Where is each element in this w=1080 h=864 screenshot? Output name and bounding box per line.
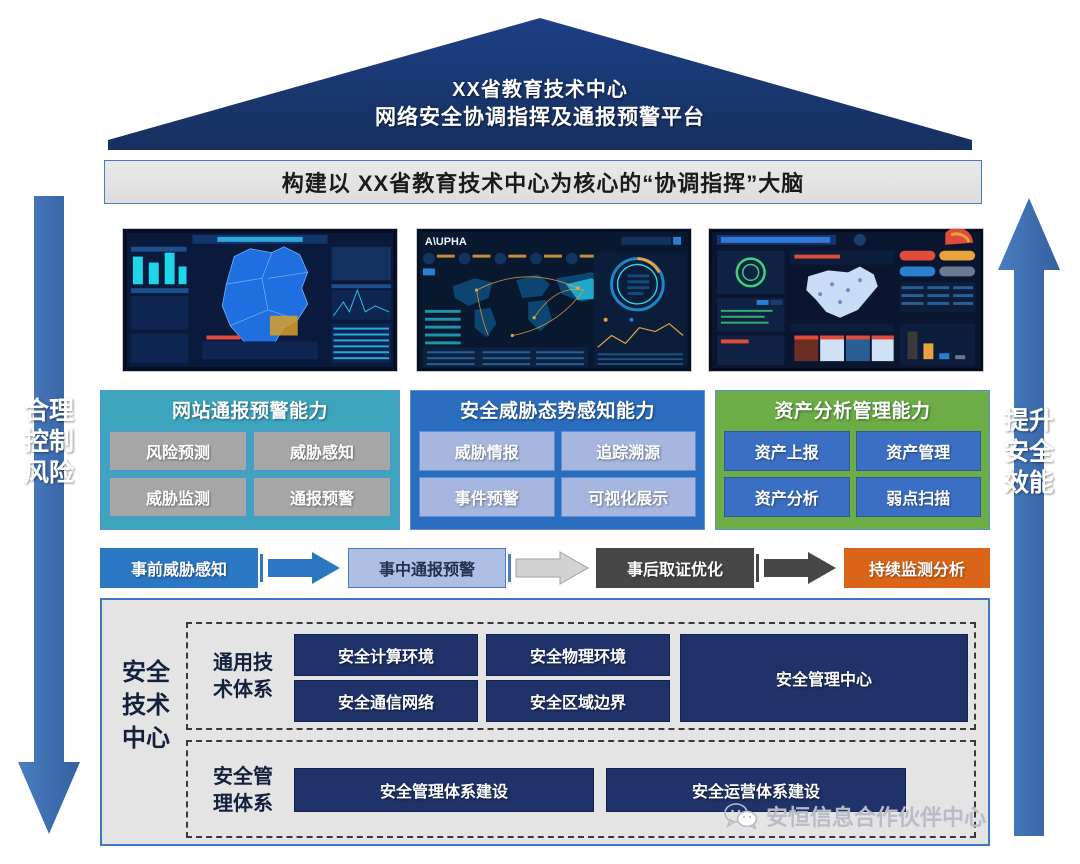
tech-item-secure-computing-env[interactable]: 安全计算环境 bbox=[294, 634, 478, 676]
cap-2-button-2[interactable]: 追踪溯源 bbox=[561, 431, 697, 471]
cap-2-title: 安全威胁态势感知能力 bbox=[419, 397, 696, 427]
roof-title-line2: 网络安全协调指挥及通报预警平台 bbox=[108, 104, 972, 132]
cap-1-button-3[interactable]: 威胁监测 bbox=[109, 477, 247, 517]
cap-1-button-1[interactable]: 风险预测 bbox=[109, 431, 247, 471]
right-arrow-icon bbox=[756, 550, 838, 586]
right-arrow-icon bbox=[260, 550, 342, 586]
cap-1-button-4[interactable]: 通报预警 bbox=[253, 477, 391, 517]
cap-1-button-2[interactable]: 威胁感知 bbox=[253, 431, 391, 471]
cap-2-button-1[interactable]: 威胁情报 bbox=[419, 431, 555, 471]
left-arrow-label: 合理控制风险 bbox=[16, 396, 82, 489]
flow-arrow-1 bbox=[260, 550, 342, 586]
flow-step-pre-incident[interactable]: 事前威胁感知 bbox=[100, 548, 258, 588]
cap-1-buttons: 风险预测 威胁感知 威胁监测 通报预警 bbox=[109, 431, 391, 517]
thumbnail-education-threat-intel-dashboard[interactable] bbox=[708, 228, 984, 372]
alpha-dashboard-image: A\UPHA bbox=[417, 229, 691, 371]
cap-3-button-3[interactable]: 资产分析 bbox=[724, 477, 850, 517]
flow-arrow-3 bbox=[756, 550, 838, 586]
province-dashboard-image bbox=[123, 229, 397, 371]
capability-panel-website-alert: 网站通报预警能力 风险预测 威胁感知 威胁监测 通报预警 bbox=[100, 390, 400, 530]
svg-text:A\UPHA: A\UPHA bbox=[425, 236, 467, 248]
cap-2-buttons: 威胁情报 追踪溯源 事件预警 可视化展示 bbox=[419, 431, 696, 517]
capability-panel-asset-analysis: 资产分析管理能力 资产上报 资产管理 资产分析 弱点扫描 bbox=[715, 390, 990, 530]
cap-1-title: 网站通报预警能力 bbox=[109, 397, 391, 427]
flow-step-during-incident[interactable]: 事中通报预警 bbox=[348, 548, 506, 588]
process-flow: 事前威胁感知 事中通报预警 事后取证优化 持续监测分析 bbox=[100, 548, 990, 588]
security-tech-center-frame: 安全 技术 中心 通用技 术体系 安全计算环境 安全物理环境 安全通信网络 安全… bbox=[100, 598, 990, 846]
security-tech-center-label: 安全 技术 中心 bbox=[114, 656, 178, 755]
capability-panel-threat-situation: 安全威胁态势感知能力 威胁情报 追踪溯源 事件预警 可视化展示 bbox=[410, 390, 705, 530]
cap-3-title: 资产分析管理能力 bbox=[724, 397, 981, 427]
roof-title: XX省教育技术中心 网络安全协调指挥及通报预警平台 bbox=[108, 76, 972, 132]
education-dashboard-image bbox=[709, 229, 983, 371]
headline-bar: 构建以 XX省教育技术中心为核心的“协调指挥”大脑 bbox=[104, 160, 982, 204]
mgmt-item-management-system-build[interactable]: 安全管理体系建设 bbox=[294, 768, 594, 812]
down-arrow-icon bbox=[16, 196, 82, 836]
right-arrow-label: 提升安全效能 bbox=[996, 406, 1062, 499]
headline-text: 构建以 XX省教育技术中心为核心的“协调指挥”大脑 bbox=[282, 166, 804, 198]
general-tech-system-group: 通用技 术体系 安全计算环境 安全物理环境 安全通信网络 安全区域边界 安全管理… bbox=[186, 622, 976, 730]
up-arrow-icon bbox=[996, 196, 1062, 836]
cap-3-buttons: 资产上报 资产管理 资产分析 弱点扫描 bbox=[724, 431, 981, 517]
cap-2-button-4[interactable]: 可视化展示 bbox=[561, 477, 697, 517]
right-up-arrow: 提升安全效能 bbox=[996, 196, 1062, 836]
flow-step-continuous-monitoring[interactable]: 持续监测分析 bbox=[844, 548, 990, 588]
roof-banner: XX省教育技术中心 网络安全协调指挥及通报预警平台 bbox=[108, 18, 972, 150]
cap-3-button-2[interactable]: 资产管理 bbox=[856, 431, 982, 471]
tech-item-secure-area-boundary[interactable]: 安全区域边界 bbox=[486, 680, 670, 722]
security-management-system-label: 安全管 理体系 bbox=[202, 764, 284, 818]
mgmt-item-operations-system-build[interactable]: 安全运营体系建设 bbox=[606, 768, 906, 812]
tech-item-security-management-center[interactable]: 安全管理中心 bbox=[680, 634, 968, 722]
cap-2-button-3[interactable]: 事件预警 bbox=[419, 477, 555, 517]
flow-step-post-incident[interactable]: 事后取证优化 bbox=[596, 548, 754, 588]
cap-3-button-1[interactable]: 资产上报 bbox=[724, 431, 850, 471]
security-management-system-group: 安全管 理体系 安全管理体系建设 安全运营体系建设 bbox=[186, 740, 976, 838]
general-tech-system-label: 通用技 术体系 bbox=[202, 650, 284, 704]
tech-item-secure-comm-network[interactable]: 安全通信网络 bbox=[294, 680, 478, 722]
left-down-arrow: 合理控制风险 bbox=[16, 196, 82, 836]
flow-arrow-2 bbox=[508, 550, 590, 586]
cap-3-button-4[interactable]: 弱点扫描 bbox=[856, 477, 982, 517]
roof-title-line1: XX省教育技术中心 bbox=[108, 76, 972, 104]
tech-item-secure-physical-env[interactable]: 安全物理环境 bbox=[486, 634, 670, 676]
thumbnail-alpha-global-threat-dashboard[interactable]: A\UPHA bbox=[416, 228, 692, 372]
thumbnail-province-situation-dashboard[interactable] bbox=[122, 228, 398, 372]
right-arrow-icon bbox=[508, 550, 590, 586]
